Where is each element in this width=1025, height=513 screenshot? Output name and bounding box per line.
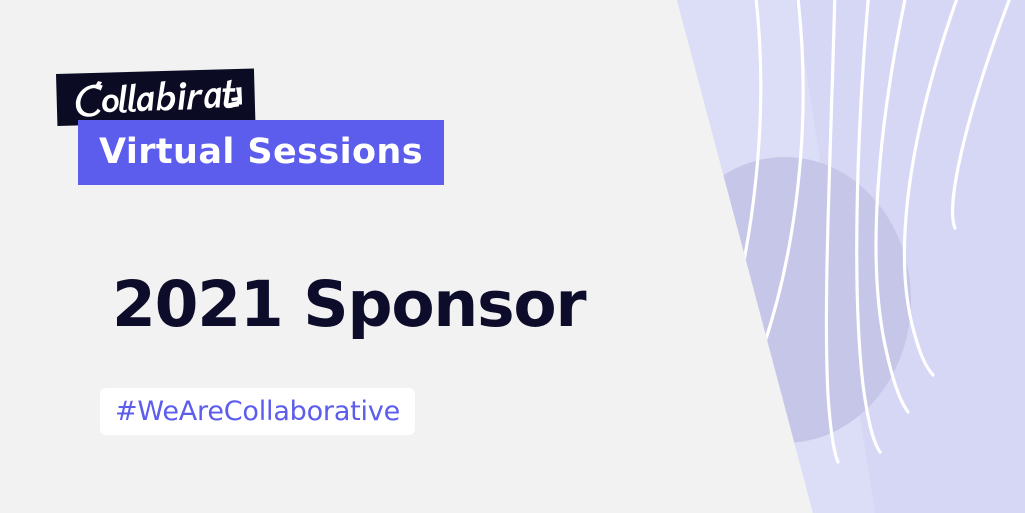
decor-line-6	[904, 0, 960, 375]
decor-line-2	[732, 0, 803, 420]
decor-line-7	[953, 0, 1013, 228]
hashtag-label: #WeAreCollaborative	[115, 398, 400, 425]
decor-circle	[659, 157, 911, 443]
decor-panel-highlight	[677, 0, 875, 513]
sponsor-banner: Virtual Sessions 2021 Sponsor #WeAreColl…	[0, 0, 1025, 513]
virtual-sessions-band: Virtual Sessions	[78, 120, 444, 185]
hashtag-chip: #WeAreCollaborative	[100, 388, 415, 435]
abstract-flowing-lines-graphic	[645, 0, 1025, 513]
brand-lockup: Virtual Sessions	[56, 74, 456, 189]
decor-line-4	[857, 0, 880, 452]
decor-line-3	[826, 0, 838, 462]
page-title: 2021 Sponsor	[112, 272, 585, 338]
collaborative-logo-box	[56, 68, 255, 126]
decor-panel	[677, 0, 1025, 513]
collaborative-script-logo	[69, 75, 242, 120]
virtual-sessions-label: Virtual Sessions	[99, 135, 423, 170]
decor-line-5	[876, 0, 908, 412]
decor-line-1	[690, 0, 761, 425]
